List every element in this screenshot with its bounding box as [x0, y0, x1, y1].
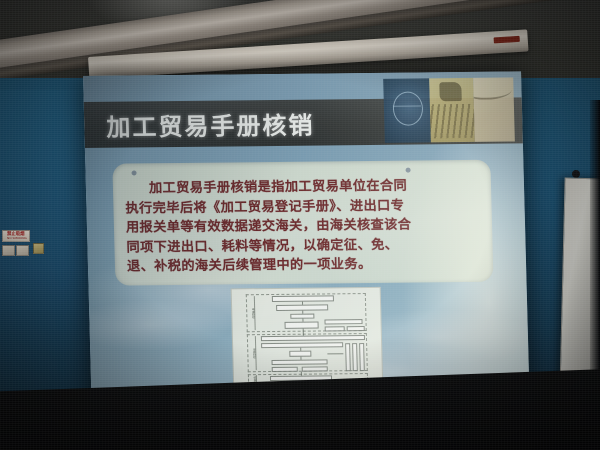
flowchart-connector: [302, 319, 303, 322]
roller-brand-tab: [494, 36, 520, 44]
flowchart-node: [272, 367, 298, 372]
projection-screen: 加工贸易手册核销 加工贸易手册核销是指加工贸易单位在合同 执行完毕后将《加工贸易…: [83, 71, 530, 419]
flowchart-connector: [303, 329, 304, 336]
light-switch-plate[interactable]: [16, 245, 29, 256]
body-line-5: 退、补税的海关后续管理中的一项业务。: [127, 254, 484, 277]
flowchart-node: [261, 342, 343, 348]
power-socket[interactable]: [33, 243, 44, 254]
cargo-photo-icon: [429, 78, 475, 142]
flowchart-node: [352, 343, 358, 371]
no-smoking-sign: 禁止吸烟 NO SMOKING: [2, 230, 30, 242]
classroom-photo: 加工贸易手册核销 加工贸易手册核销是指加工贸易单位在合同 执行完毕后将《加工贸易…: [0, 0, 600, 450]
slide-canvas: 加工贸易手册核销 加工贸易手册核销是指加工贸易单位在合同 执行完毕后将《加工贸易…: [83, 71, 530, 419]
slide-decorative-collage: [383, 77, 515, 142]
panel-pin-dot-right: [406, 168, 411, 173]
slide-title: 加工贸易手册核销: [106, 106, 315, 143]
slide-text-panel: 加工贸易手册核销是指加工贸易单位在合同 执行完毕后将《加工贸易登记手册》、进出口…: [112, 160, 493, 286]
flowchart-node: [324, 319, 362, 324]
flowchart-connector: [301, 372, 302, 376]
slide-body-text: 加工贸易手册核销是指加工贸易单位在合同 执行完毕后将《加工贸易登记手册》、进出口…: [125, 176, 484, 278]
flowchart-band-label-2: 审核阶段: [249, 336, 257, 370]
flowchart-node: [345, 343, 351, 371]
flowchart-node: [285, 322, 319, 329]
flowchart-connector: [300, 357, 301, 360]
light-switch-plate[interactable]: [2, 245, 15, 256]
flowchart-band-label-1: 申报阶段: [248, 296, 256, 330]
flowchart-connector: [327, 353, 343, 354]
customs-verification-flowchart: 申报阶段 审核阶段 结案阶段: [231, 287, 384, 393]
flowchart-connector: [302, 302, 303, 305]
flowchart-node: [359, 343, 365, 371]
flowchart-node: [347, 326, 365, 331]
flowchart-connector: [302, 311, 303, 314]
flowchart-node: [271, 359, 327, 365]
flowchart-node: [302, 366, 328, 371]
flowchart-node: [272, 295, 334, 302]
no-smoking-sign-subtitle: NO SMOKING: [3, 237, 29, 240]
flowchart-connector: [300, 348, 301, 351]
panel-pin-dot-left: [131, 170, 136, 175]
document-photo-icon: [473, 77, 515, 141]
globe-icon: [383, 78, 431, 142]
flowchart-node: [325, 326, 345, 331]
